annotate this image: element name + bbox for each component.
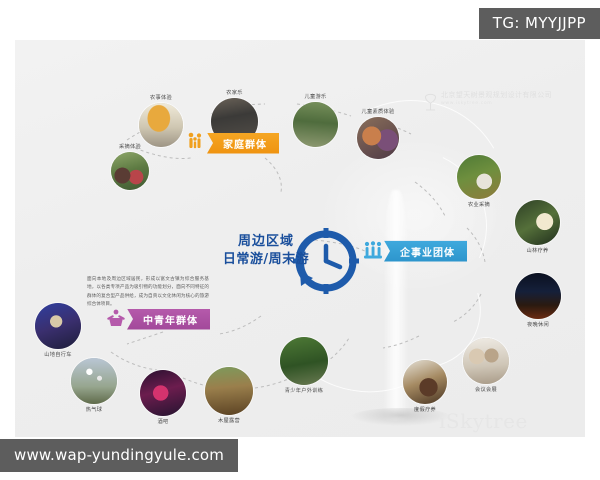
bubble-nightlife[interactable]: 夜晚休闲 [515,273,561,319]
photo-youthtrain [280,337,328,385]
hub-paragraph: 面向本地及周边区域居民，形成以富文古镇为综合服务基地，以各类专项产品为吸引物的功… [87,276,209,310]
bubble-kidsquality[interactable]: 儿童素质体验 [357,117,399,159]
tg-badge: TG: MYYJJPP [479,8,600,39]
caption-mtb: 山地自行车 [44,351,71,358]
poster-canvas: 采摘体验 农事体验 农家乐 儿童游乐 儿童素质体验 [0,0,600,480]
photo-resort [403,360,447,404]
tree-logo-icon [423,91,438,111]
bubble-kidsplay[interactable]: 儿童游乐 [293,102,338,147]
caption-youthtrain: 青少年户外训练 [285,387,323,394]
bubble-cabin[interactable]: 木屋露营 [205,367,253,415]
url-badge: www.wap-yundingyule.com [0,439,238,472]
hub-title-line1: 周边区域 [211,233,321,251]
caption-kidsquality: 儿童素质体验 [362,108,395,115]
branch-label-family: 家庭群体 [207,133,279,154]
bubble-conference[interactable]: 会议会展 [463,338,509,384]
family-icon [183,130,209,156]
bubble-balloon[interactable]: 热气球 [71,358,117,404]
company-url: www.iskytree.com [441,101,552,108]
bike-icon [103,306,129,332]
caption-farmstay: 农家乐 [226,89,242,96]
poster-panel: 采摘体验 农事体验 农家乐 儿童游乐 儿童素质体验 [15,40,585,437]
bubble-forestcare[interactable]: 山林疗养 [515,200,560,245]
bubble-agriharvest[interactable]: 农业采摘 [457,155,501,199]
photo-kidsquality [357,117,399,159]
caption-forestcare: 山林疗养 [527,247,549,254]
photo-farmwork [139,103,183,147]
bubble-resort[interactable]: 度假疗养 [403,360,447,404]
branch-label-youth: 中青年群体 [127,309,210,330]
company-name: 北京望天树景观规划设计有限公司 [441,91,552,99]
photo-cabin [205,367,253,415]
caption-resort: 度假疗养 [414,406,436,413]
branch-banner-youth[interactable]: 中青年群体 [103,308,210,330]
branch-banner-enterprise[interactable]: 企事业团体 [360,240,467,262]
photo-nightlife [515,273,561,319]
caption-picking: 采摘体验 [119,143,141,150]
caption-nightlife: 夜晚休闲 [527,321,549,328]
photo-conference [463,338,509,384]
bubble-youthtrain[interactable]: 青少年户外训练 [280,337,328,385]
photo-picking [111,152,149,190]
caption-agriharvest: 农业采摘 [468,201,490,208]
hub-title-line2: 日常游/周末游 [211,251,321,269]
bubble-picking[interactable]: 采摘体验 [111,152,149,190]
caption-cabin: 木屋露营 [218,417,240,424]
group-icon [360,238,386,264]
bubble-bar[interactable]: 酒吧 [140,370,186,416]
photo-bar [140,370,186,416]
caption-kidsplay: 儿童游乐 [305,93,327,100]
photo-mtb [35,303,81,349]
photo-balloon [71,358,117,404]
caption-balloon: 热气球 [86,406,102,413]
bubble-farmwork[interactable]: 农事体验 [139,103,183,147]
photo-agriharvest [457,155,501,199]
branch-banner-family[interactable]: 家庭群体 [183,132,279,154]
bubble-mtb[interactable]: 山地自行车 [35,303,81,349]
hub-title: 周边区域 日常游/周末游 [211,233,321,268]
caption-bar: 酒吧 [158,418,169,425]
photo-forestcare [515,200,560,245]
caption-conference: 会议会展 [475,386,497,393]
caption-farmwork: 农事体验 [150,94,172,101]
branch-label-enterprise: 企事业团体 [384,241,467,262]
brand-watermark: iSkytree [439,409,528,433]
photo-kidsplay [293,102,338,147]
company-watermark: 北京望天树景观规划设计有限公司 www.iskytree.com [423,90,552,107]
